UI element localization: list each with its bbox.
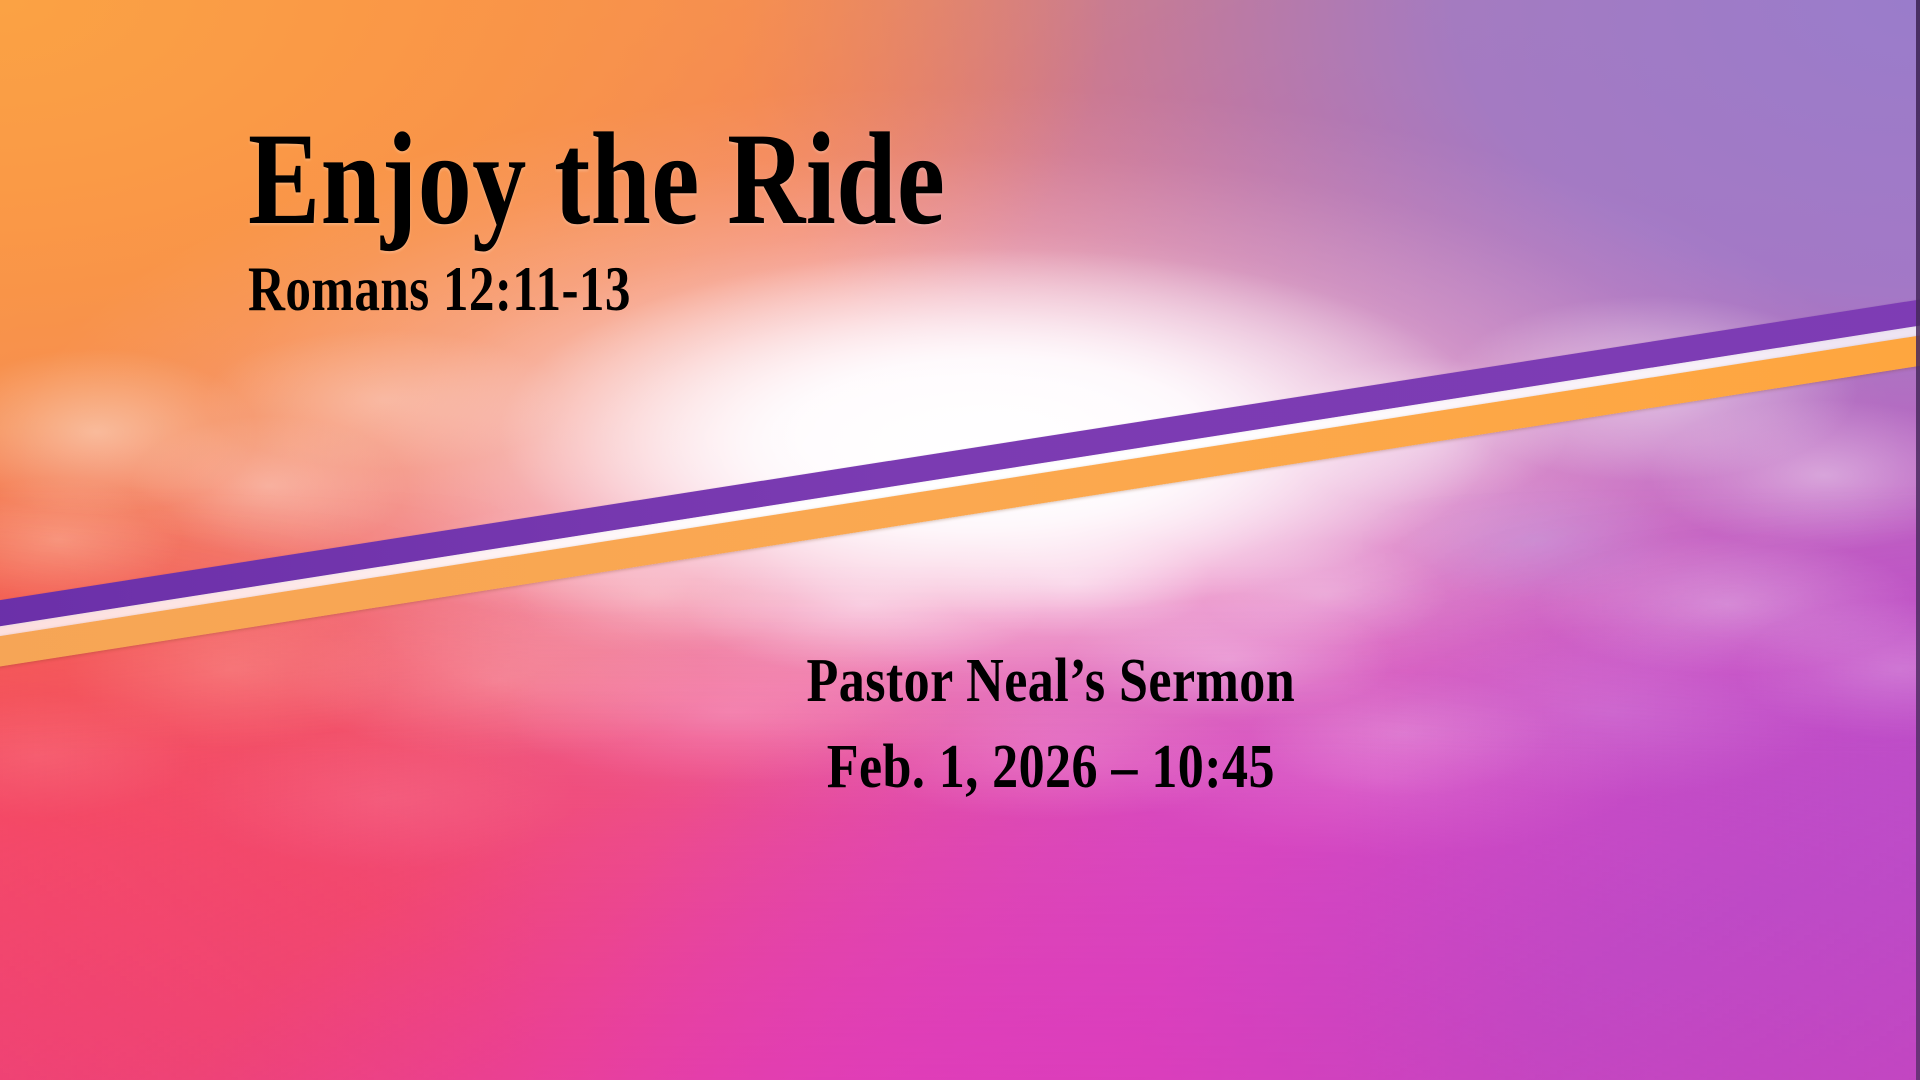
scripture-reference: Romans 12:11-13 <box>248 257 928 321</box>
sermon-title-slide: Enjoy the Ride Romans 12:11-13 Pastor Ne… <box>0 0 1920 1080</box>
title-block: Enjoy the Ride Romans 12:11-13 <box>248 108 1098 321</box>
slide-right-edge <box>1916 0 1920 1080</box>
speaker-line: Pastor Neal’s Sermon <box>807 650 1296 712</box>
credit-block: Pastor Neal’s Sermon Feb. 1, 2026 – 10:4… <box>760 650 1342 798</box>
page-title: Enjoy the Ride <box>248 108 945 251</box>
date-time-line: Feb. 1, 2026 – 10:45 <box>807 736 1296 798</box>
